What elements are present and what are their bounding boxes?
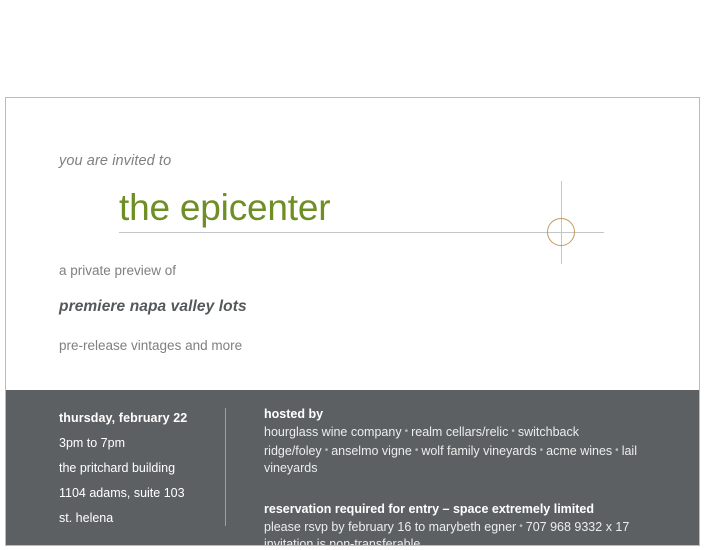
- host-name: realm cellars/relic: [411, 425, 508, 439]
- hosted-by-heading: hosted by: [264, 406, 664, 423]
- transferable-note: invitation is non-transferable: [264, 536, 664, 546]
- event-date: thursday, february 22: [59, 406, 214, 431]
- page-title: the epicenter: [119, 186, 330, 230]
- event-details-column: thursday, february 22 3pm to 7pm the pri…: [59, 406, 214, 531]
- host-separator: •: [322, 445, 332, 456]
- horizontal-rule: [119, 232, 604, 233]
- lots-headline: premiere napa valley lots: [59, 298, 247, 316]
- event-address: 1104 adams, suite 103: [59, 481, 214, 506]
- card-upper-section: you are invited to the epicenter a priva…: [6, 98, 699, 390]
- event-venue: the pritchard building: [59, 456, 214, 481]
- host-separator: •: [537, 445, 547, 456]
- host-name: hourglass wine company: [264, 425, 402, 439]
- invitation-card: you are invited to the epicenter a priva…: [5, 97, 700, 546]
- invitation-page: you are invited to the epicenter a priva…: [0, 0, 705, 550]
- epicenter-circle-icon: [547, 218, 575, 246]
- host-separator: •: [412, 445, 422, 456]
- title-block: the epicenter: [6, 186, 699, 246]
- hosts-and-rsvp-column: hosted by hourglass wine company•realm c…: [264, 406, 664, 546]
- host-separator: •: [402, 426, 412, 437]
- host-name: acme wines: [546, 444, 612, 458]
- event-time: 3pm to 7pm: [59, 431, 214, 456]
- rsvp-phone: 707 968 9332 x 17: [526, 520, 630, 534]
- vintages-text: pre-release vintages and more: [59, 338, 242, 353]
- column-divider: [225, 408, 226, 526]
- hosts-list: hourglass wine company•realm cellars/rel…: [264, 423, 656, 478]
- rsvp-line: please rsvp by february 16 to marybeth e…: [264, 518, 664, 537]
- preview-text: a private preview of: [59, 263, 176, 278]
- host-separator: •: [612, 445, 622, 456]
- event-city: st. helena: [59, 506, 214, 531]
- rsvp-separator: •: [516, 521, 526, 532]
- reservation-heading: reservation required for entry – space e…: [264, 500, 664, 518]
- host-name: wolf family vineyards: [421, 444, 536, 458]
- host-name: anselmo vigne: [331, 444, 412, 458]
- intro-text: you are invited to: [59, 153, 171, 169]
- host-separator: •: [508, 426, 518, 437]
- rsvp-text: please rsvp by february 16 to marybeth e…: [264, 520, 516, 534]
- card-lower-section: thursday, february 22 3pm to 7pm the pri…: [6, 390, 699, 545]
